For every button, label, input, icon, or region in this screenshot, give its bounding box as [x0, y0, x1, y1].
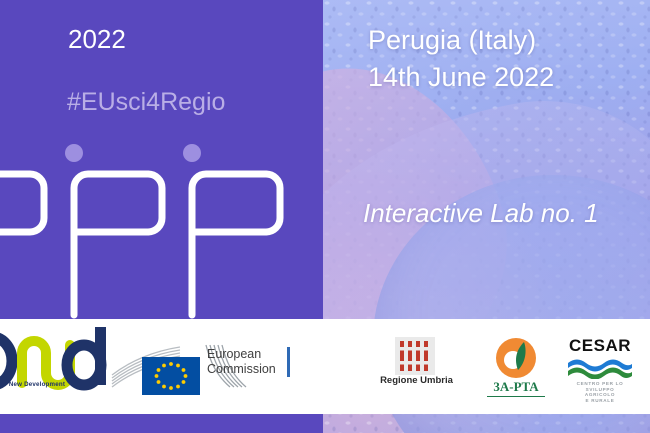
- rounded-p-pattern-decoration: [0, 140, 323, 319]
- event-location-date: Perugia (Italy) 14th June 2022: [368, 22, 554, 96]
- bottom-purple-strip: [0, 414, 323, 433]
- event-year: 2022: [68, 24, 126, 54]
- cesar-wave-mark: [566, 357, 634, 379]
- ec-accent-bar: [287, 347, 290, 377]
- bond-logo: [0, 325, 112, 401]
- ec-line-2: Commission: [207, 362, 276, 377]
- session-label: Interactive Lab no. 1: [363, 198, 599, 229]
- event-banner: nce ts ons 2022 #EUsci4Regio: [0, 0, 650, 433]
- ec-line-1: European: [207, 347, 276, 362]
- event-hashtag: #EUsci4Regio: [67, 87, 225, 117]
- deco-dot-1: [65, 144, 83, 162]
- event-location: Perugia (Italy): [368, 22, 554, 59]
- logo-bar-left: n Umbria For New Development: [0, 319, 323, 414]
- event-date: 14th June 2022: [368, 59, 554, 96]
- apta-label: 3A-PTA: [487, 379, 545, 397]
- regione-umbria-label: Regione Umbria: [364, 375, 469, 386]
- left-purple-panel: nce ts ons 2022 #EUsci4Regio: [0, 0, 323, 319]
- cesar-wordmark: CESAR: [561, 336, 639, 356]
- deco-dot-2: [183, 144, 201, 162]
- bond-tagline: n Umbria For New Development: [0, 381, 96, 388]
- european-commission-label: European Commission: [207, 347, 276, 377]
- cesar-subtitle: CENTRO PER LO SVILUPPO AGRICOLO E RURALE: [560, 381, 640, 403]
- apta-logo-mark: [494, 336, 538, 380]
- cesar-sub-line-4: E RURALE: [560, 398, 640, 404]
- regione-umbria-mark: [395, 337, 435, 375]
